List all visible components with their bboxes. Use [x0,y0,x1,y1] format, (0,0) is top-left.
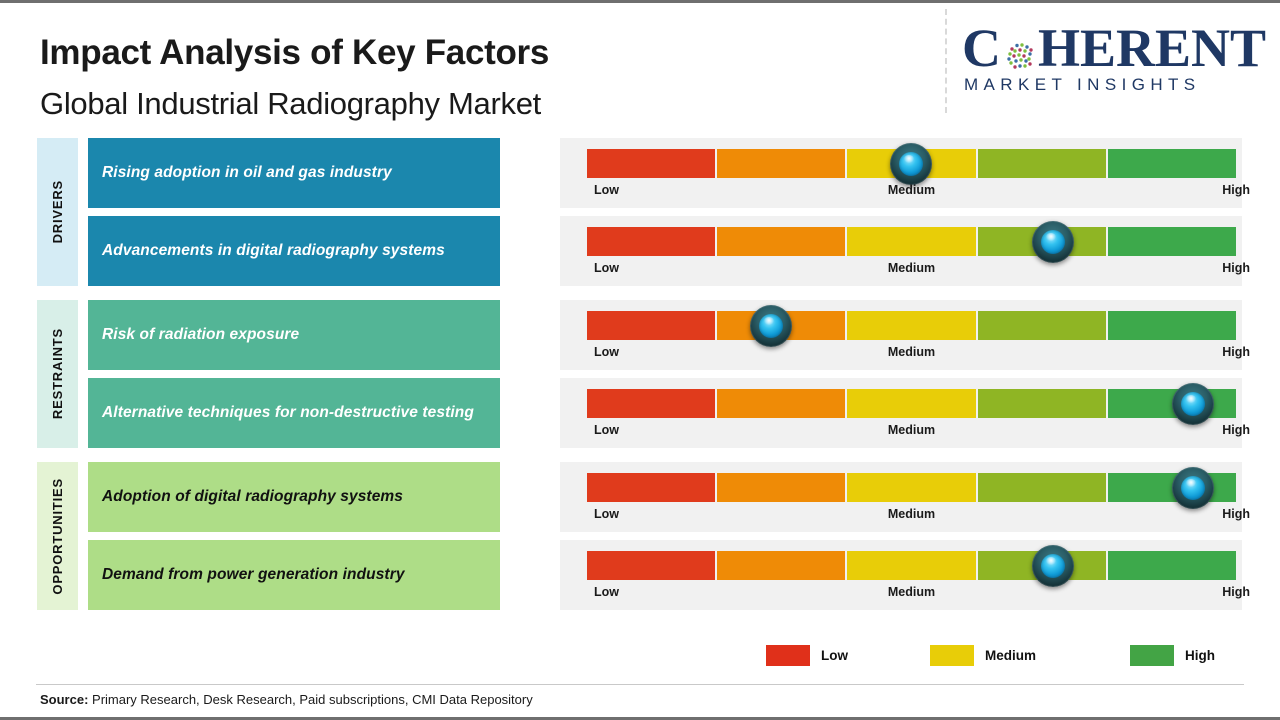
scale-label-high: High [1222,507,1250,521]
gauge-segment-5 [1108,227,1236,256]
legend-swatch [766,645,810,666]
gauge-segment-1 [587,149,715,178]
gauge-track [587,389,1236,418]
impact-gauge[interactable]: LowMediumHigh [560,462,1242,532]
category-label: DRIVERS [50,180,65,243]
scale-label-medium: Medium [888,507,935,521]
gauge-scale: LowMediumHigh [587,261,1236,281]
scale-label-low: Low [594,507,619,521]
gauge-segment-3 [847,311,975,340]
legend-swatch [930,645,974,666]
gauge-segment-1 [587,389,715,418]
gauge-segment-1 [587,227,715,256]
gauge-track [587,551,1236,580]
matrix-row: Demand from power generation industryLow… [88,540,1242,610]
scale-label-low: Low [594,585,619,599]
gauge-segment-3 [847,227,975,256]
factor-label: Rising adoption in oil and gas industry [102,163,392,183]
marker-highlight [1046,557,1056,565]
logo-tagline: MARKET INSIGHTS [964,75,1201,95]
logo-letter-c: C [962,21,1001,75]
factor-card[interactable]: Risk of radiation exposure [88,300,500,370]
gauge-scale: LowMediumHigh [587,183,1236,203]
source-note: Source: Primary Research, Desk Research,… [40,692,533,707]
factor-card[interactable]: Rising adoption in oil and gas industry [88,138,500,208]
category-group-opportunities: OPPORTUNITIESAdoption of digital radiogr… [37,462,1242,610]
legend-item: Low [766,645,848,666]
scale-label-low: Low [594,345,619,359]
factor-label: Risk of radiation exposure [102,325,299,345]
gauge-scale: LowMediumHigh [587,423,1236,443]
matrix-row: Alternative techniques for non-destructi… [88,378,1242,448]
marker-highlight [1186,479,1196,487]
header-divider [945,9,947,113]
impact-gauge[interactable]: LowMediumHigh [560,138,1242,208]
category-strip: OPPORTUNITIES [37,462,78,610]
gauge-segment-2 [717,389,845,418]
scale-label-medium: Medium [888,423,935,437]
gauge-segment-1 [587,473,715,502]
scale-label-low: Low [594,423,619,437]
gauge-scale: LowMediumHigh [587,345,1236,365]
globe-icon [1004,39,1038,73]
marker-highlight [764,317,774,325]
matrix-row: Risk of radiation exposureLowMediumHigh [88,300,1242,370]
gauge-segment-4 [978,389,1106,418]
legend-swatch [1130,645,1174,666]
gauge-scale: LowMediumHigh [587,585,1236,605]
footer-divider [36,684,1244,685]
source-label: Source: [40,692,88,707]
scale-label-low: Low [594,261,619,275]
scale-label-low: Low [594,183,619,197]
gauge-track [587,311,1236,340]
impact-matrix: DRIVERSRising adoption in oil and gas in… [0,138,1280,618]
scale-label-high: High [1222,183,1250,197]
impact-marker[interactable] [890,143,932,185]
scale-label-high: High [1222,585,1250,599]
gauge-segment-4 [978,473,1106,502]
factor-card[interactable]: Adoption of digital radiography systems [88,462,500,532]
gauge-segment-1 [587,311,715,340]
gauge-segment-5 [1108,149,1236,178]
impact-gauge[interactable]: LowMediumHigh [560,300,1242,370]
gauge-segment-4 [978,311,1106,340]
header: Impact Analysis of Key Factors Global In… [0,3,1280,128]
logo-word-rest: HERENT [1038,21,1266,75]
gauge-scale: LowMediumHigh [587,507,1236,527]
impact-gauge[interactable]: LowMediumHigh [560,540,1242,610]
factor-label: Advancements in digital radiography syst… [102,241,445,261]
matrix-row: Rising adoption in oil and gas industryL… [88,138,1242,208]
legend-label: Medium [985,648,1036,663]
impact-gauge[interactable]: LowMediumHigh [560,378,1242,448]
marker-highlight [1046,233,1056,241]
impact-marker[interactable] [1172,467,1214,509]
gauge-segment-2 [717,227,845,256]
legend-item: High [1130,645,1215,666]
factor-card[interactable]: Alternative techniques for non-destructi… [88,378,500,448]
category-label: RESTRAINTS [50,328,65,419]
scale-label-medium: Medium [888,585,935,599]
legend: LowMediumHigh [760,645,1220,669]
gauge-segment-1 [587,551,715,580]
gauge-segment-5 [1108,551,1236,580]
factor-card[interactable]: Demand from power generation industry [88,540,500,610]
gauge-track [587,473,1236,502]
gauge-segment-5 [1108,311,1236,340]
page-subtitle: Global Industrial Radiography Market [40,86,541,122]
impact-marker[interactable] [1032,221,1074,263]
gauge-segment-4 [978,149,1106,178]
impact-gauge[interactable]: LowMediumHigh [560,216,1242,286]
gauge-segment-2 [717,551,845,580]
legend-label: Low [821,648,848,663]
factor-label: Demand from power generation industry [102,565,405,585]
scale-label-medium: Medium [888,261,935,275]
scale-label-high: High [1222,423,1250,437]
impact-marker[interactable] [1032,545,1074,587]
matrix-row: Adoption of digital radiography systemsL… [88,462,1242,532]
category-group-drivers: DRIVERSRising adoption in oil and gas in… [37,138,1242,286]
category-label: OPPORTUNITIES [50,478,65,595]
scale-label-high: High [1222,345,1250,359]
scale-label-medium: Medium [888,183,935,197]
legend-label: High [1185,648,1215,663]
gauge-segment-2 [717,473,845,502]
page-title: Impact Analysis of Key Factors [40,33,549,73]
factor-label: Adoption of digital radiography systems [102,487,403,507]
impact-marker[interactable] [750,305,792,347]
category-strip: DRIVERS [37,138,78,286]
marker-highlight [1186,395,1196,403]
factor-card[interactable]: Advancements in digital radiography syst… [88,216,500,286]
gauge-segment-2 [717,149,845,178]
logo-wordmark: C [962,25,1262,73]
marker-highlight [904,155,914,163]
slide-root: Impact Analysis of Key Factors Global In… [0,0,1280,720]
gauge-track [587,227,1236,256]
gauge-segment-3 [847,389,975,418]
impact-marker[interactable] [1172,383,1214,425]
matrix-row: Advancements in digital radiography syst… [88,216,1242,286]
scale-label-medium: Medium [888,345,935,359]
category-group-restraints: RESTRAINTSRisk of radiation exposureLowM… [37,300,1242,448]
factor-label: Alternative techniques for non-destructi… [102,403,474,423]
gauge-segment-3 [847,551,975,580]
gauge-segment-3 [847,473,975,502]
category-strip: RESTRAINTS [37,300,78,448]
legend-item: Medium [930,645,1036,666]
company-logo: C [962,25,1262,103]
source-text: Primary Research, Desk Research, Paid su… [88,692,532,707]
scale-label-high: High [1222,261,1250,275]
